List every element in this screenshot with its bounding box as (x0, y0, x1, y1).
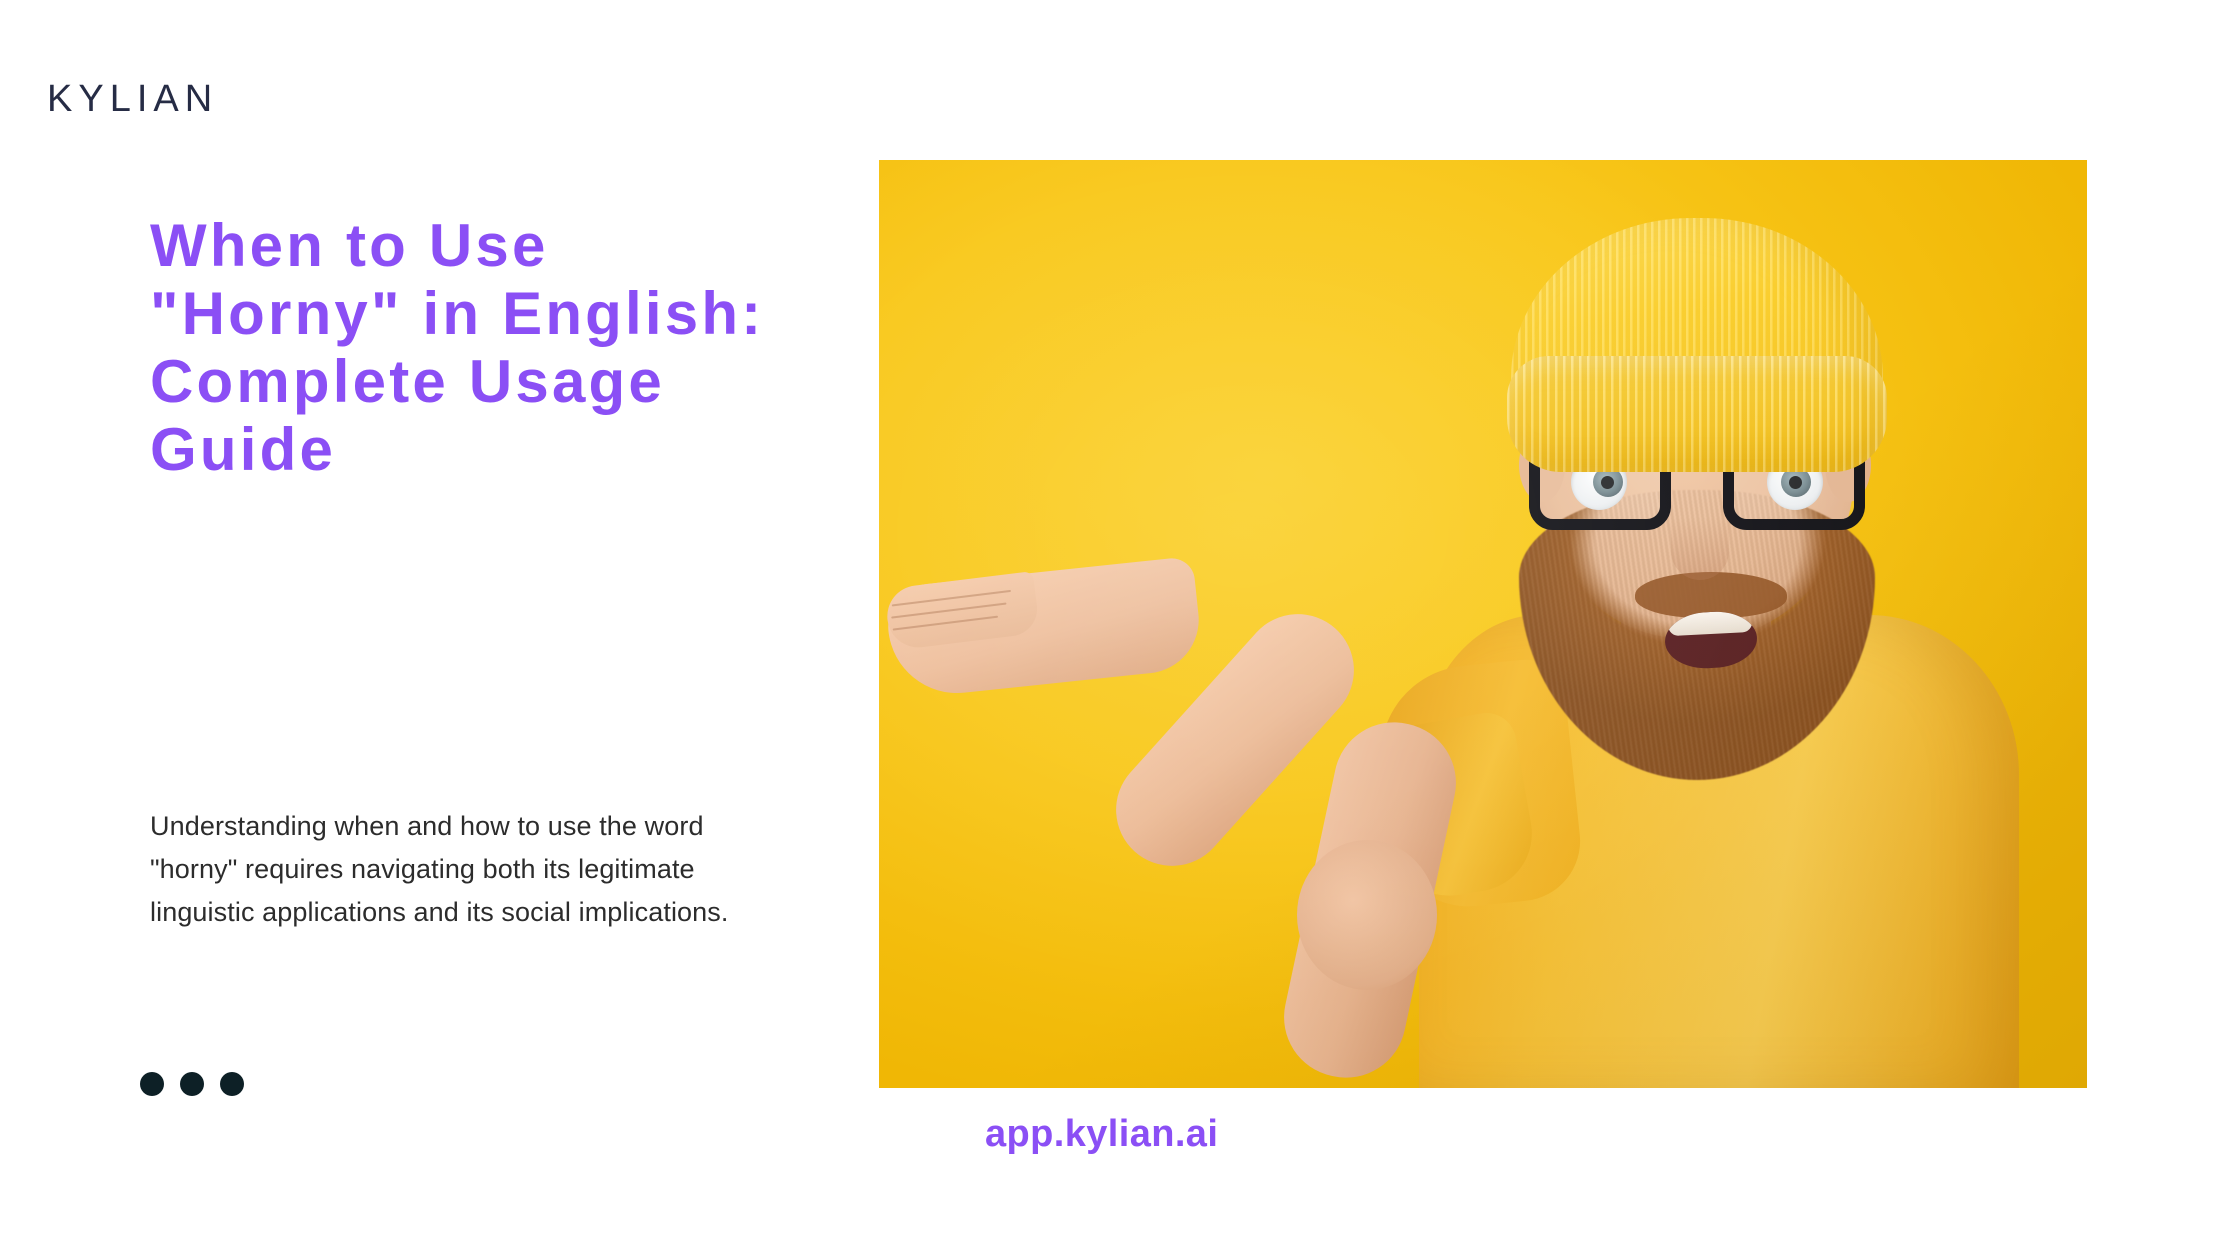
site-url[interactable]: app.kylian.ai (985, 1112, 1218, 1158)
dot-icon (180, 1072, 204, 1096)
page-title: When to Use "Horny" in English: Complete… (150, 212, 770, 484)
brand-logo[interactable]: KYLIAN (47, 80, 218, 118)
photo-vignette (879, 160, 2087, 1088)
hero-image (879, 160, 2087, 1088)
decorative-dots (140, 1072, 244, 1096)
dot-icon (220, 1072, 244, 1096)
slide-canvas: KYLIAN When to Use "Horny" in English: C… (0, 0, 2240, 1260)
dot-icon (140, 1072, 164, 1096)
hero-text-column: When to Use "Horny" in English: Complete… (150, 212, 770, 484)
hero-subtitle: Understanding when and how to use the wo… (150, 805, 775, 934)
